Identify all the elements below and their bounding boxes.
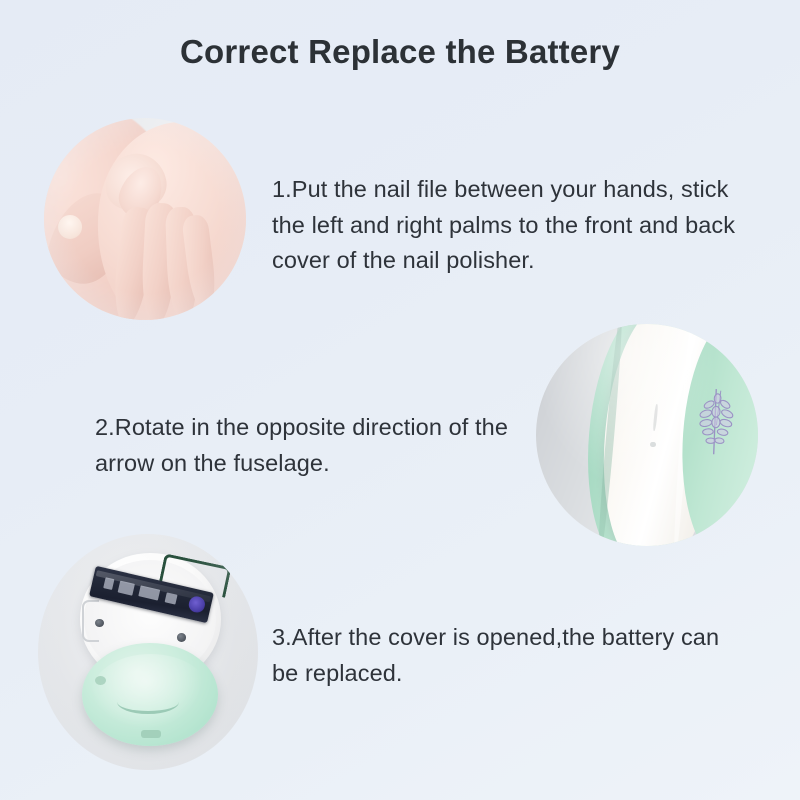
circle-clip	[536, 324, 758, 546]
step-1-text: 1.Put the nail file between your hands, …	[272, 172, 762, 279]
vignette-overlay	[44, 118, 246, 320]
gloss-overlay	[536, 324, 758, 546]
step-1-image	[44, 118, 246, 320]
step-3-text: 3.After the cover is opened,the battery …	[272, 620, 752, 691]
instruction-poster: Correct Replace the Battery 1.Put the na…	[0, 0, 800, 800]
opened-device-illustration	[38, 534, 258, 770]
vignette-overlay	[38, 534, 258, 770]
page-title: Correct Replace the Battery	[0, 34, 800, 70]
step-2-image	[536, 324, 758, 546]
step-3-image	[38, 534, 258, 770]
device-closeup-illustration	[536, 324, 758, 546]
step-2-text: 2.Rotate in the opposite direction of th…	[95, 410, 545, 481]
hands-holding-polisher-illustration	[44, 118, 246, 320]
